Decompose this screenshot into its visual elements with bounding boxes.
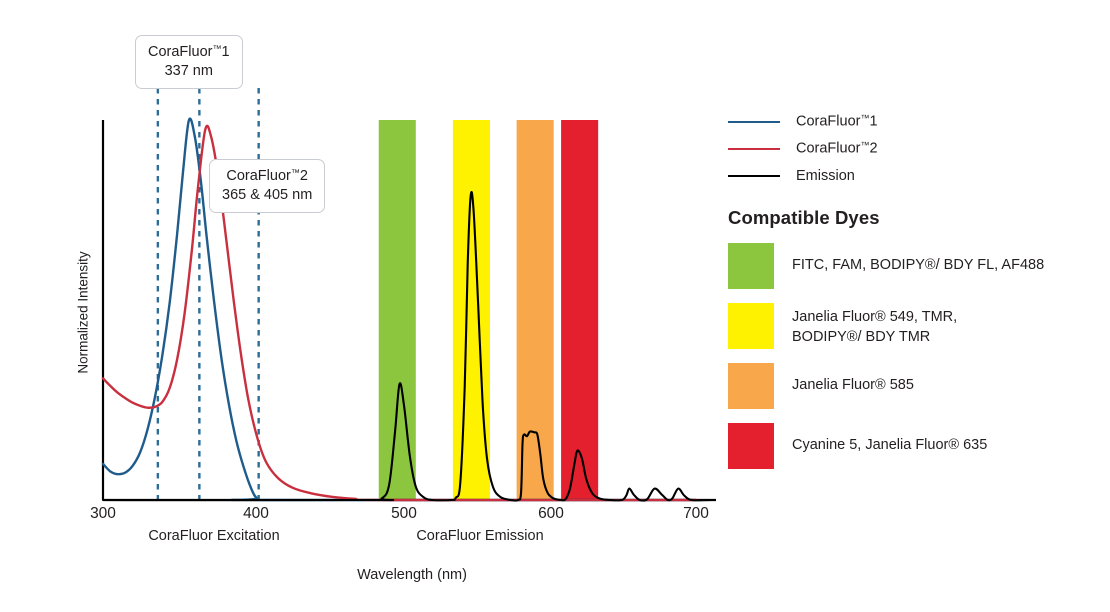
legend-label-1-prefix: CoraFluor	[796, 141, 860, 157]
legend-line-swatch-corafluor-2	[728, 148, 780, 150]
legend-line-swatch-emission	[728, 175, 780, 177]
excitation-marker-lines	[158, 88, 259, 500]
callout-cf2-name: CoraFluor	[226, 168, 290, 184]
callout-cf2-index: 2	[300, 168, 308, 184]
compatible-dyes-title: Compatible Dyes	[728, 207, 1098, 229]
region-label-excitation: CoraFluor Excitation	[148, 528, 279, 544]
callout-corafluor-2: CoraFluor™2 365 & 405 nm	[209, 159, 325, 213]
callout-cf2-title: CoraFluor™2	[222, 167, 312, 186]
x-tick-500: 500	[391, 505, 417, 523]
dye-swatch-yellow	[728, 303, 774, 349]
y-axis-title: Normalized Intensity	[76, 218, 91, 408]
x-tick-300: 300	[90, 505, 116, 523]
callout-cf1-value: 337 nm	[148, 62, 230, 81]
legend-label-1-suffix: 2	[869, 141, 877, 157]
dye-label-green: FITC, FAM, BODIPY®/ BDY FL, AF488	[792, 243, 1044, 275]
dye-row-red: Cyanine 5, Janelia Fluor® 635	[728, 423, 1098, 469]
legend-panel: CoraFluor™1 CoraFluor™2 Emission Compati…	[728, 108, 1098, 469]
x-tick-700: 700	[683, 505, 709, 523]
dye-row-yellow: Janelia Fluor® 549, TMR, BODIPY®/ BDY TM…	[728, 303, 1098, 349]
dye-label-yellow: Janelia Fluor® 549, TMR, BODIPY®/ BDY TM…	[792, 303, 957, 347]
dye-row-green: FITC, FAM, BODIPY®/ BDY FL, AF488	[728, 243, 1098, 289]
red-band	[561, 120, 598, 500]
legend-label-0-prefix: CoraFluor	[796, 114, 860, 130]
green-band	[379, 120, 416, 500]
dye-row-orange: Janelia Fluor® 585	[728, 363, 1098, 409]
callout-cf1-title: CoraFluor™1	[148, 43, 230, 62]
legend-line-swatch-corafluor-1	[728, 121, 780, 123]
legend-label-corafluor-1: CoraFluor™1	[796, 113, 878, 130]
x-tick-400: 400	[243, 505, 269, 523]
dye-swatch-green	[728, 243, 774, 289]
x-tick-600: 600	[538, 505, 564, 523]
callout-corafluor-1: CoraFluor™1 337 nm	[135, 35, 243, 89]
fluorescence-spectra-figure: CoraFluor™1 337 nm CoraFluor™2 365 & 405…	[0, 0, 1110, 612]
dye-swatch-orange	[728, 363, 774, 409]
callout-cf1-index: 1	[221, 44, 229, 60]
legend-label-corafluor-2: CoraFluor™2	[796, 140, 878, 157]
plot-area: CoraFluor™1 337 nm CoraFluor™2 365 & 405…	[0, 0, 730, 612]
dye-swatch-red	[728, 423, 774, 469]
legend-label-emission: Emission	[796, 168, 855, 184]
legend-item-corafluor-1: CoraFluor™1	[728, 108, 1098, 135]
region-label-emission: CoraFluor Emission	[416, 528, 543, 544]
legend-item-emission: Emission	[728, 162, 1098, 189]
filter-bands-layer	[379, 120, 598, 500]
callout-cf1-name: CoraFluor	[148, 44, 212, 60]
legend-label-0-suffix: 1	[869, 114, 877, 130]
x-axis-title: Wavelength (nm)	[357, 567, 467, 583]
dye-label-orange: Janelia Fluor® 585	[792, 363, 914, 395]
dye-label-red: Cyanine 5, Janelia Fluor® 635	[792, 423, 987, 455]
legend-item-corafluor-2: CoraFluor™2	[728, 135, 1098, 162]
callout-cf2-value: 365 & 405 nm	[222, 186, 312, 205]
